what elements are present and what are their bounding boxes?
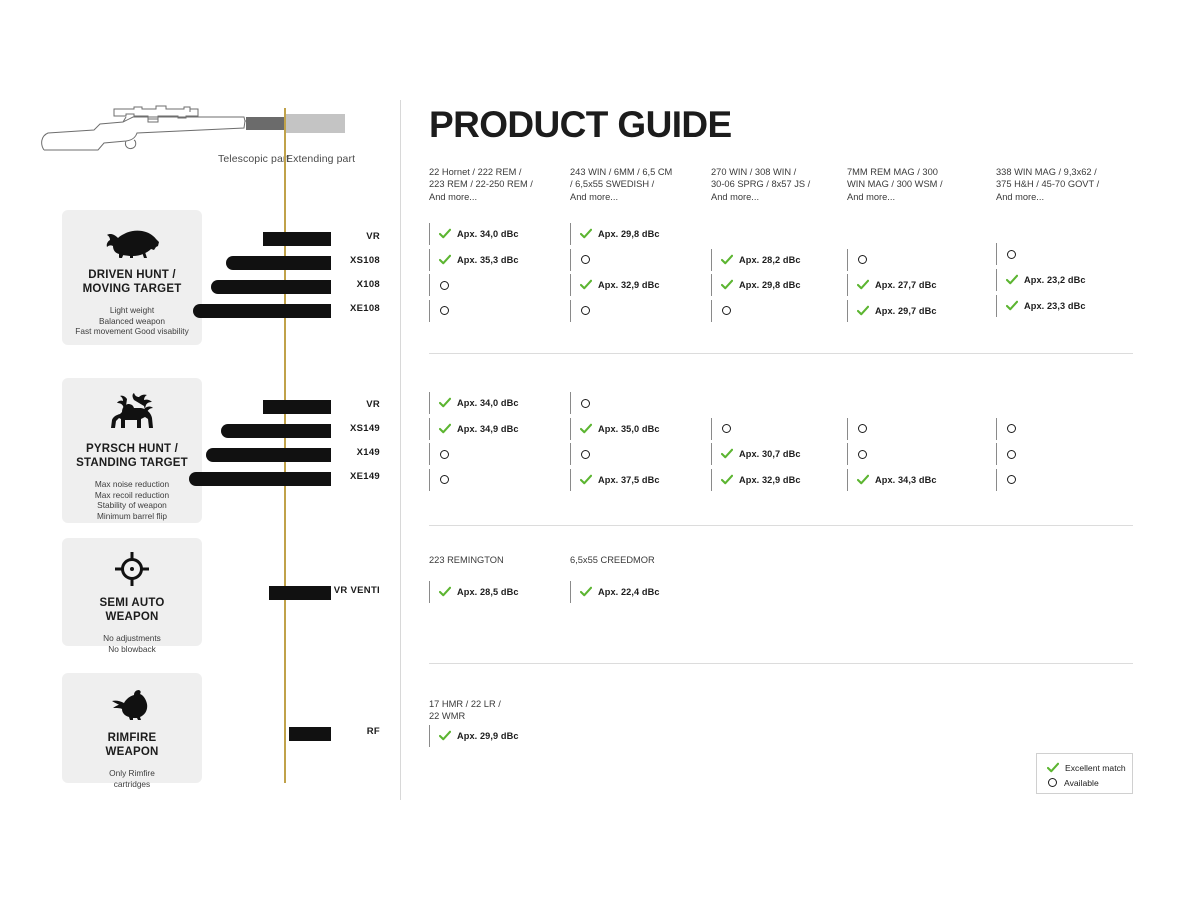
check-icon <box>721 448 733 460</box>
column-header-4: 7MM REM MAG / 300WIN MAG / 300 WSM /And … <box>847 166 977 203</box>
cell-value: Apx. 27,7 dBc <box>875 280 937 290</box>
silencer-model-label: XE108 <box>340 303 380 314</box>
extending-part-label: Extending part <box>286 153 355 165</box>
cell-available <box>570 392 590 414</box>
crosshair-icon <box>115 552 149 586</box>
legend-row-match: Excellent match <box>1047 760 1132 775</box>
cell-available <box>847 249 867 271</box>
check-icon <box>439 228 451 240</box>
circle-icon <box>581 306 590 315</box>
check-icon <box>1047 762 1059 774</box>
silencer-bar <box>193 304 331 318</box>
column-header-1: 22 Hornet / 222 REM /223 REM / 22-250 RE… <box>429 166 559 203</box>
cell-excellent-match: Apx. 35,3 dBc <box>429 249 519 271</box>
silencer-bar-row: VR <box>0 400 400 418</box>
cell-excellent-match: Apx. 29,8 dBc <box>570 223 660 245</box>
cell-value: Apx. 28,5 dBc <box>457 587 519 597</box>
silencer-model-label: VR VENTI <box>300 585 380 596</box>
page-title: PRODUCT GUIDE <box>429 104 732 146</box>
silencer-bar <box>211 280 331 294</box>
check-icon <box>857 305 869 317</box>
check-icon <box>439 397 451 409</box>
circle-icon <box>440 306 449 315</box>
cell-value: Apx. 29,9 dBc <box>457 731 519 741</box>
cell-value: Apx. 35,0 dBc <box>598 424 660 434</box>
silencer-bar <box>206 448 331 462</box>
legend-available-label: Available <box>1064 778 1099 788</box>
cell-excellent-match: Apx. 37,5 dBc <box>570 469 660 491</box>
cell-excellent-match: Apx. 30,7 dBc <box>711 443 801 465</box>
cell-excellent-match: Apx. 34,0 dBc <box>429 223 519 245</box>
grouse-icon <box>109 687 155 721</box>
silencer-bar-row: VR <box>0 232 400 250</box>
silencer-bar <box>189 472 331 486</box>
circle-icon <box>1007 424 1016 433</box>
circle-icon <box>581 255 590 264</box>
category-bullets: No adjustments No blowback <box>103 633 161 668</box>
cell-value: Apx. 37,5 dBc <box>598 475 660 485</box>
circle-icon <box>722 306 731 315</box>
check-icon <box>439 730 451 742</box>
rifle-outline-icon <box>38 100 368 152</box>
panel-divider <box>400 100 401 800</box>
circle-icon <box>440 450 449 459</box>
cell-value: Apx. 22,4 dBc <box>598 587 660 597</box>
product-guide-page: Telescopic part Extending part DRIVEN HU… <box>0 0 1200 900</box>
telescopic-part-label: Telescopic part <box>218 153 290 165</box>
telescopic-section <box>246 117 286 130</box>
cell-available <box>429 469 449 491</box>
silencer-model-label: VR <box>340 399 380 410</box>
cell-excellent-match: Apx. 29,9 dBc <box>429 725 519 747</box>
column-header-5: 338 WIN MAG / 9,3x62 /375 H&H / 45-70 GO… <box>996 166 1126 203</box>
check-icon <box>580 423 592 435</box>
silencer-bar-row: XE149 <box>0 472 400 490</box>
cell-value: Apx. 30,7 dBc <box>739 449 801 459</box>
legend-box: Excellent match Available <box>1036 753 1133 794</box>
circle-icon <box>858 450 867 459</box>
silencer-bar-row: XS149 <box>0 424 400 442</box>
circle-icon <box>440 475 449 484</box>
cell-available <box>847 443 867 465</box>
cell-excellent-match: Apx. 32,9 dBc <box>570 274 660 296</box>
category-card-driven-hunt: DRIVEN HUNT / MOVING TARGET Light weight… <box>62 210 202 345</box>
silencer-bar-row: RF <box>0 727 400 745</box>
circle-icon <box>1007 475 1016 484</box>
circle-icon <box>440 281 449 290</box>
cell-value: Apx. 32,9 dBc <box>739 475 801 485</box>
cell-excellent-match: Apx. 34,3 dBc <box>847 469 937 491</box>
check-icon <box>439 423 451 435</box>
section-divider <box>429 525 1133 526</box>
cell-excellent-match: Apx. 34,0 dBc <box>429 392 519 414</box>
circle-icon <box>1007 450 1016 459</box>
silencer-bar <box>226 256 331 270</box>
cell-excellent-match: Apx. 28,5 dBc <box>429 581 519 603</box>
silencer-bar <box>289 727 331 741</box>
cell-available <box>570 249 590 271</box>
section-divider <box>429 663 1133 664</box>
silencer-bar-row: X108 <box>0 280 400 298</box>
silencer-model-label: XS108 <box>340 255 380 266</box>
cell-excellent-match: Apx. 27,7 dBc <box>847 274 937 296</box>
cell-value: Apx. 35,3 dBc <box>457 255 519 265</box>
check-icon <box>721 254 733 266</box>
check-icon <box>580 474 592 486</box>
silencer-model-label: XE149 <box>340 471 380 482</box>
silencer-bar-row: X149 <box>0 448 400 466</box>
check-icon <box>1006 300 1018 312</box>
check-icon <box>439 586 451 598</box>
silencer-model-label: X108 <box>340 279 380 290</box>
circle-icon <box>581 399 590 408</box>
cell-value: Apx. 29,7 dBc <box>875 306 937 316</box>
check-icon <box>1006 274 1018 286</box>
cell-value: Apx. 23,3 dBc <box>1024 301 1086 311</box>
silencer-bar <box>221 424 331 438</box>
silencer-bar-row: VR VENTI <box>0 586 400 604</box>
silencer-model-label: VR <box>340 231 380 242</box>
check-icon <box>439 254 451 266</box>
cell-excellent-match: Apx. 23,2 dBc <box>996 269 1086 291</box>
cell-value: Apx. 34,0 dBc <box>457 398 519 408</box>
cell-available <box>429 274 449 296</box>
circle-icon <box>1007 250 1016 259</box>
section-divider <box>429 353 1133 354</box>
section-caliber-label: 6,5x55 CREEDMOR <box>570 554 655 566</box>
silencer-bar <box>263 400 331 414</box>
cell-excellent-match: Apx. 29,7 dBc <box>847 300 937 322</box>
cell-available <box>711 300 731 322</box>
check-icon <box>857 474 869 486</box>
cell-value: Apx. 29,8 dBc <box>598 229 660 239</box>
extending-section <box>286 114 345 133</box>
silencer-bar-row: XE108 <box>0 304 400 322</box>
circle-icon <box>858 255 867 264</box>
category-bullets: Only Rimfire cartridges <box>109 768 155 803</box>
check-icon <box>721 474 733 486</box>
circle-icon <box>581 450 590 459</box>
section-caliber-label: 17 HMR / 22 LR /22 WMR <box>429 698 501 723</box>
cell-available <box>996 418 1016 440</box>
cell-value: Apx. 29,8 dBc <box>739 280 801 290</box>
cell-excellent-match: Apx. 34,9 dBc <box>429 418 519 440</box>
circle-icon <box>858 424 867 433</box>
silencer-model-label: RF <box>340 726 380 737</box>
silencer-model-label: X149 <box>340 447 380 458</box>
check-icon <box>721 279 733 291</box>
check-icon <box>857 279 869 291</box>
rifle-illustration: Telescopic part Extending part <box>38 100 368 170</box>
cell-value: Apx. 28,2 dBc <box>739 255 801 265</box>
cell-available <box>996 469 1016 491</box>
check-icon <box>580 228 592 240</box>
cell-excellent-match: Apx. 29,8 dBc <box>711 274 801 296</box>
column-header-3: 270 WIN / 308 WIN /30-06 SPRG / 8x57 JS … <box>711 166 841 203</box>
cell-available <box>429 300 449 322</box>
cell-value: Apx. 23,2 dBc <box>1024 275 1086 285</box>
legend-row-available: Available <box>1047 775 1132 790</box>
legend-match-label: Excellent match <box>1065 763 1126 773</box>
cell-excellent-match: Apx. 28,2 dBc <box>711 249 801 271</box>
cell-available <box>996 443 1016 465</box>
check-icon <box>580 586 592 598</box>
cell-value: Apx. 34,3 dBc <box>875 475 937 485</box>
cell-value: Apx. 34,0 dBc <box>457 229 519 239</box>
cell-value: Apx. 34,9 dBc <box>457 424 519 434</box>
alignment-axis <box>284 108 286 783</box>
cell-available <box>570 300 590 322</box>
cell-available <box>996 243 1016 265</box>
silencer-bar <box>263 232 331 246</box>
silencer-model-label: XS149 <box>340 423 380 434</box>
cell-excellent-match: Apx. 23,3 dBc <box>996 295 1086 317</box>
column-header-2: 243 WIN / 6MM / 6,5 CM/ 6,5x55 SWEDISH /… <box>570 166 700 203</box>
cell-available <box>847 418 867 440</box>
silencer-bar-row: XS108 <box>0 256 400 274</box>
circle-icon <box>1048 778 1057 787</box>
circle-icon <box>722 424 731 433</box>
cell-available <box>570 443 590 465</box>
check-icon <box>580 279 592 291</box>
cell-available <box>711 418 731 440</box>
cell-excellent-match: Apx. 22,4 dBc <box>570 581 660 603</box>
cell-value: Apx. 32,9 dBc <box>598 280 660 290</box>
cell-available <box>429 443 449 465</box>
cell-excellent-match: Apx. 32,9 dBc <box>711 469 801 491</box>
cell-excellent-match: Apx. 35,0 dBc <box>570 418 660 440</box>
section-caliber-label: 223 REMINGTON <box>429 554 504 566</box>
